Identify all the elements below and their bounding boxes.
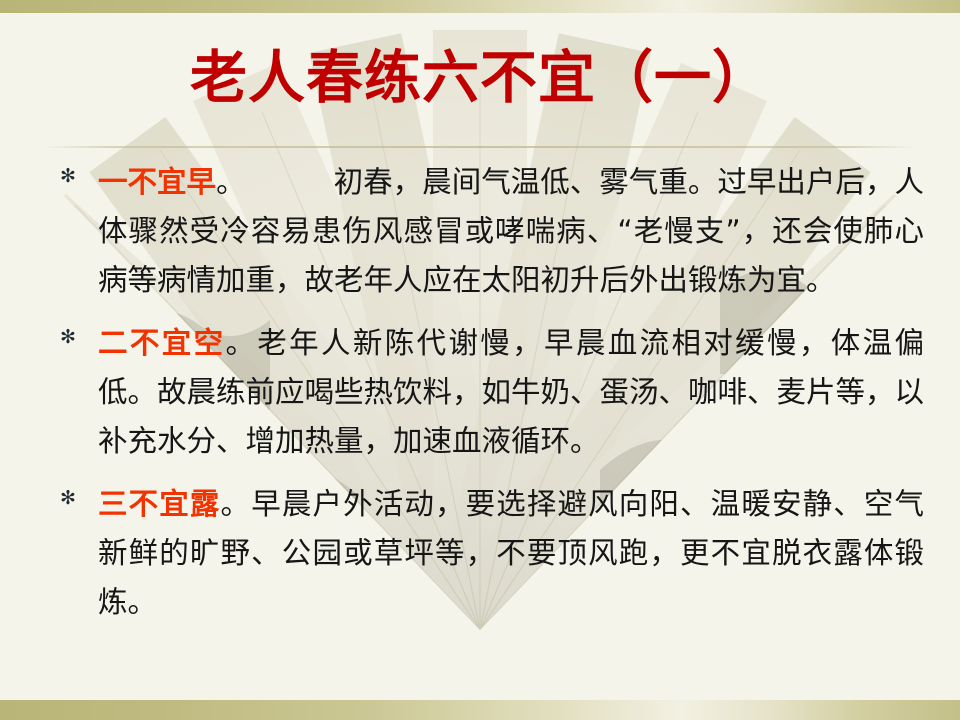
- lead-label-3: 三不宜露: [98, 487, 221, 521]
- bullet-asterisk-icon: ✻: [59, 328, 77, 346]
- bottom-gold-bar: [0, 700, 960, 720]
- lead-suffix-2: 。: [225, 326, 257, 360]
- page-title: 老人春练六不宜（一）: [0, 44, 960, 112]
- title-divider: [44, 146, 916, 148]
- paragraph-3: 三不宜露。早晨户外活动，要选择避风向阳、温暖安静、空气新鲜的旷野、公园或草坪等，…: [98, 480, 924, 627]
- bullet-asterisk-icon: ✻: [59, 167, 77, 185]
- slide-canvas: 老人春练六不宜（一） ✻ 一不宜早。初春，晨间气温低、雾气重。过早出户后，人体骤…: [0, 0, 960, 720]
- list-item: ✻ 一不宜早。初春，晨间气温低、雾气重。过早出户后，人体骤然受冷容易患伤风感冒或…: [52, 158, 924, 305]
- list-item: ✻ 二不宜空。老年人新陈代谢慢，早晨血流相对缓慢，体温偏低。故晨练前应喝些热饮料…: [52, 319, 924, 466]
- top-gold-bar: [0, 0, 960, 13]
- lead-label-2: 二不宜空: [98, 326, 225, 360]
- paragraph-1: 一不宜早。初春，晨间气温低、雾气重。过早出户后，人体骤然受冷容易患伤风感冒或哮喘…: [98, 158, 924, 305]
- body-content: ✻ 一不宜早。初春，晨间气温低、雾气重。过早出户后，人体骤然受冷容易患伤风感冒或…: [52, 158, 924, 627]
- lead-label-1: 一不宜早: [98, 165, 216, 199]
- lead-suffix-1: 。: [216, 165, 246, 199]
- paragraph-2: 二不宜空。老年人新陈代谢慢，早晨血流相对缓慢，体温偏低。故晨练前应喝些热饮料，如…: [98, 319, 924, 466]
- list-item: ✻ 三不宜露。早晨户外活动，要选择避风向阳、温暖安静、空气新鲜的旷野、公园或草坪…: [52, 480, 924, 627]
- bullet-asterisk-icon: ✻: [59, 489, 77, 507]
- lead-suffix-3: 。: [221, 487, 252, 521]
